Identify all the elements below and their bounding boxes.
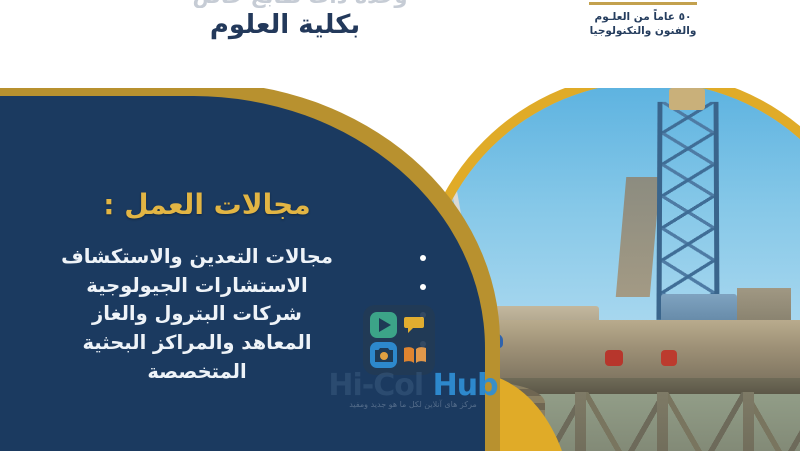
list-item: مجالات التعدين والاستكشاف [0, 243, 414, 272]
list-item: شركات البترول والغاز [0, 300, 414, 329]
platform-leg [575, 392, 586, 451]
bullet-icon [420, 284, 426, 290]
list-item: الاستشارات الجيولوجية [0, 272, 414, 301]
field-label: شركات البترول والغاز [92, 302, 302, 325]
fields-of-work-section: مجالات العمل : مجالات التعدين والاستكشاف… [0, 96, 470, 451]
drilling-derrick [656, 102, 719, 320]
platform-leg [657, 392, 668, 451]
bullet-icon [420, 312, 426, 318]
platform-leg [743, 392, 754, 451]
equipment-red-1 [605, 350, 623, 366]
field-label: الاستشارات الجيولوجية [86, 274, 307, 297]
poster-header: وحدة ذات طابع خاص بكلية العلوم ٥٠ عاماً … [0, 0, 800, 88]
fields-of-work-heading: مجالات العمل : [0, 188, 470, 221]
promotional-poster: مجالات العمل : مجالات التعدين والاستكشاف… [0, 0, 800, 451]
anniversary-line-2: والفنون والتكنولوجيا [568, 24, 718, 38]
anniversary-rule [589, 2, 697, 5]
header-title-partial: وحدة ذات طابع خاص [150, 0, 450, 8]
anniversary-badge: ٥٠ عاماً من العلـوم والفنون والتكنولوجيا [568, 2, 718, 38]
equipment-red-2 [661, 350, 677, 366]
bullet-icon [420, 255, 426, 261]
fields-of-work-list: مجالات التعدين والاستكشاف الاستشارات الج… [0, 243, 470, 386]
field-label-line2: المتخصصة [0, 358, 394, 387]
anniversary-line-1: ٥٠ عاماً من العلـوم [568, 10, 718, 24]
page-title: بكلية العلوم [120, 10, 450, 40]
list-item: المعاهد والمراكز البحثية المتخصصة [0, 329, 414, 386]
field-label: المعاهد والمراكز البحثية [82, 331, 311, 354]
bullet-icon [420, 341, 426, 347]
derrick-crown [669, 88, 705, 110]
field-label: مجالات التعدين والاستكشاف [61, 245, 333, 268]
